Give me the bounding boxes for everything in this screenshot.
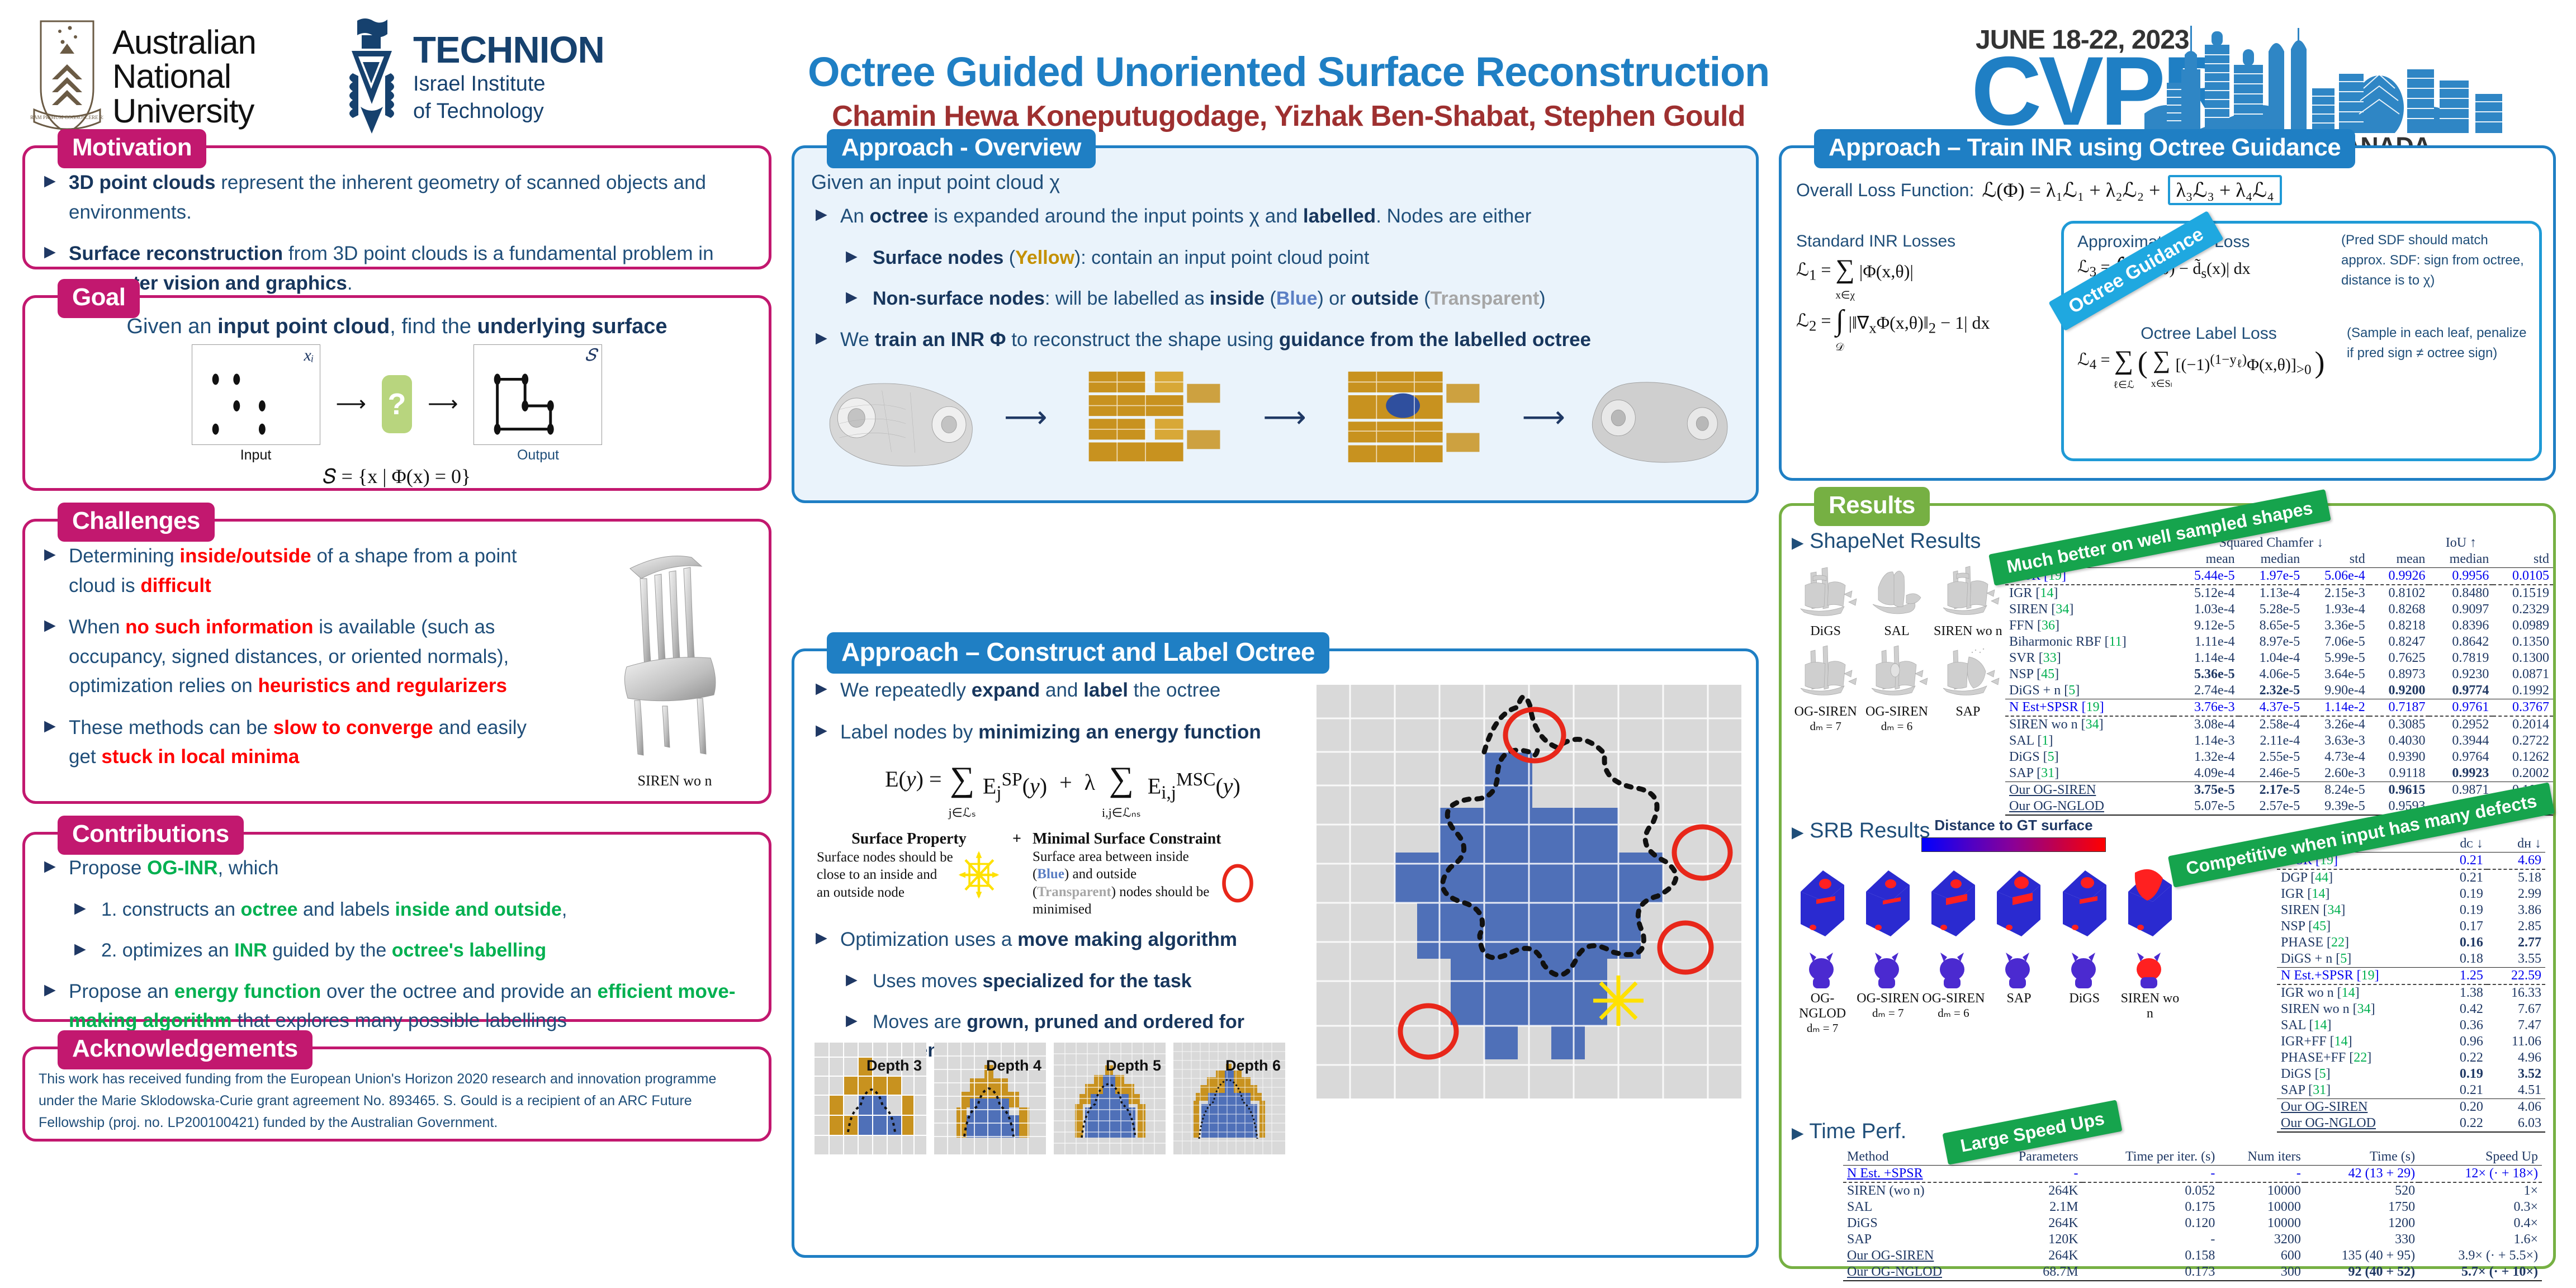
shapenet-fig-sub-4: dₘ = 7 <box>1791 719 1860 733</box>
table-cell: 2.11e-4 <box>2239 733 2304 749</box>
table-row: DiGS [5]0.193.52 <box>2277 1066 2545 1082</box>
table-cell: 16.33 <box>2487 984 2545 1001</box>
table-cell-method: IGR wo n [14] <box>2277 984 2439 1001</box>
table-cell: 0.9774 <box>2429 683 2493 699</box>
l4-sub-1: ℓ∈ℒ <box>2114 379 2134 390</box>
table-row: Our OG-NGLOD0.226.03 <box>2277 1115 2545 1132</box>
table-cell: 1750 <box>2305 1199 2419 1215</box>
overall-loss-eq-highlight: λ₃ℒ₃ + λ₄ℒ₄ <box>2168 175 2281 205</box>
table-cell: 2.46e-5 <box>2239 765 2304 782</box>
srb-bracket-4-image <box>1987 857 2048 946</box>
table-cell: 8.65e-5 <box>2239 618 2304 634</box>
table-cell: 2.57e-5 <box>2239 798 2304 815</box>
table-cell: 0.9764 <box>2429 749 2493 765</box>
technion-name: TECHNION <box>413 31 604 69</box>
technion-logo: TECHNION Israel Institute of Technology <box>338 16 651 139</box>
table-row: DGP [44]0.215.18 <box>2277 869 2545 886</box>
table-cell: 3.86 <box>2487 902 2545 918</box>
srb-anchor-2-image <box>1856 949 1917 988</box>
table-row: SIREN wo n [34]0.427.67 <box>2277 1001 2545 1017</box>
table-row: DiGS [5]1.32e-42.55e-54.73e-40.93900.976… <box>2005 749 2553 765</box>
table-cell: 68.7M <box>1987 1264 2082 1281</box>
table-cell: 0.9615 <box>2369 782 2430 799</box>
srb-figure: OG-SIREN dₘ = 7 <box>1856 857 1920 1035</box>
column-header: mean <box>2173 551 2239 568</box>
table-cell: 0.8480 <box>2429 585 2493 602</box>
octree-label-block: Octree Label Loss ℒ4 = ∑ℓ∈ℒ ( ∑x∈Sₗ [(−1… <box>2077 324 2340 392</box>
table-row: SAL [14]0.367.47 <box>2277 1017 2545 1034</box>
table-cell: 5.18 <box>2487 869 2545 886</box>
vancouver-skyline-icon <box>2144 16 2558 133</box>
octree-labelling-figure <box>1317 685 1741 1098</box>
arrow-right-icon-4: ⟶ <box>1263 399 1306 434</box>
table-cell: 7.67 <box>2487 1001 2545 1017</box>
table-cell: 12× (· + 18×) <box>2419 1166 2542 1183</box>
list-item: Surface reconstruction from 3D point clo… <box>40 239 750 298</box>
shapenet-heading: ▶ ShapeNet Results <box>1792 529 1981 553</box>
table-row: SIREN wo n [34]3.08e-42.58e-43.26e-40.30… <box>2005 716 2553 733</box>
energy-term-msc: Minimal Surface Constraint Surface area … <box>1033 830 1256 918</box>
table-cell: 0.4× <box>2419 1215 2542 1232</box>
depth-figure: Depth 3 <box>815 1043 926 1157</box>
table-cell-method: SAL [14] <box>2277 1017 2439 1034</box>
table-cell: 2.60e-3 <box>2304 765 2369 782</box>
table-row: NSP [45]5.36e-54.06e-53.64e-50.89730.923… <box>2005 666 2553 683</box>
table-cell: 4.37e-5 <box>2239 699 2304 717</box>
table-row: DiGS + n [5]0.183.55 <box>2277 951 2545 968</box>
sum-sub-right: i,j∈ℒₙₛ <box>1102 806 1141 820</box>
table-cell: 3.52 <box>2487 1066 2545 1082</box>
table-cell: 264K <box>1987 1215 2082 1232</box>
term-sp-title: Surface Property <box>817 830 1001 848</box>
table-cell: 0.7819 <box>2429 650 2493 666</box>
table-cell: 0.8247 <box>2369 634 2430 650</box>
page-title: Octree Guided Unoriented Surface Reconst… <box>693 50 1884 94</box>
table-row: SIREN [34]1.03e-45.28e-51.93e-40.82680.9… <box>2005 602 2553 618</box>
technion-emblem-icon <box>338 17 405 138</box>
table-cell: 0.20 <box>2439 1099 2487 1116</box>
column-header: Time (s) <box>2305 1149 2419 1166</box>
standard-losses-title: Standard INR Losses <box>1796 232 2053 251</box>
shapenet-figure: OG-SIREN dₘ = 7 <box>1791 640 1860 733</box>
table-cell: 2.85 <box>2487 918 2545 935</box>
table-cell: 0.19 <box>2439 886 2487 902</box>
table-cell: 600 <box>2219 1248 2304 1264</box>
table-cell: 4.73e-4 <box>2304 749 2369 765</box>
author-list: Chamin Hewa Koneputugodage, Yizhak Ben-S… <box>693 100 1884 133</box>
shapenet-figure: DiGS <box>1791 560 1860 639</box>
table-cell: 4.09e-4 <box>2173 765 2239 782</box>
table-cell: 0.7187 <box>2369 699 2430 717</box>
srb-fig-label-2: OG-SIREN <box>1856 991 1920 1006</box>
table-cell: 0.9956 <box>2429 568 2493 585</box>
anu-line-1: Australian <box>112 25 256 59</box>
shapenet-fig-label-4: OG-SIREN <box>1791 704 1860 719</box>
term-msc-body: Surface area between inside (Blue) and o… <box>1033 848 1215 918</box>
srb-bracket-3-image <box>1921 857 1983 946</box>
panel-title-results: Results <box>1814 487 1930 526</box>
depth-label-4: Depth 4 <box>986 1057 1041 1074</box>
table-row: IGR [14]0.192.99 <box>2277 886 2545 902</box>
table-cell: 0.1992 <box>2493 683 2553 699</box>
srb-anchor-6-image <box>2118 949 2180 988</box>
table-cell: 7.06e-5 <box>2304 634 2369 650</box>
shapenet-table: Squared Chamfer ↓IoU ↑Methodmeanmedianst… <box>2005 535 2553 816</box>
list-item: Surface nodes (Yellow): contain an input… <box>811 244 1739 272</box>
goal-diagram: xᵢ Input ⟶ ? ⟶ 𝑆 <box>25 344 769 463</box>
table-cell: 9.39e-5 <box>2304 798 2369 815</box>
shapenet-table-wrap: Squared Chamfer ↓IoU ↑Methodmeanmedianst… <box>2005 535 2553 816</box>
table-cell: 0.2329 <box>2493 602 2553 618</box>
table-cell: 0.9118 <box>2369 765 2430 782</box>
table-cell-method: SIREN [34] <box>2277 902 2439 918</box>
table-cell: 0.0871 <box>2493 666 2553 683</box>
shapenet-figure: SAP <box>1933 640 2003 733</box>
panel-challenges: Challenges Determining inside/outside of… <box>22 519 771 804</box>
technion-sub-2: of Technology <box>413 100 604 124</box>
table-cell: 0.1300 <box>2493 650 2553 666</box>
table-cell: 0.9923 <box>2429 765 2493 782</box>
table-cell: 0.9200 <box>2369 683 2430 699</box>
depth-figure: Depth 5 <box>1054 1043 1166 1157</box>
shapenet-fig-label-2: SAL <box>1862 624 1931 639</box>
list-item: Non-surface nodes: will be labelled as i… <box>811 285 1739 313</box>
challenges-list: Determining inside/outside of a shape fr… <box>40 542 543 772</box>
table-cell: 0.120 <box>2082 1215 2219 1232</box>
list-item: Label nodes by minimizing an energy func… <box>811 718 1298 747</box>
table-cell: 1.38 <box>2439 984 2487 1001</box>
srb-fig-sub-2: dₘ = 7 <box>1856 1006 1920 1020</box>
srb-bracket-2-image <box>1856 857 1917 946</box>
table-cell-method: NSP [45] <box>2277 918 2439 935</box>
table-cell: 0.0105 <box>2493 568 2553 585</box>
table-cell-method: IGR [14] <box>2277 886 2439 902</box>
srb-anchor-1-image <box>1791 949 1852 988</box>
list-item: When no such information is available (s… <box>40 613 543 701</box>
table-cell: 0.96 <box>2439 1034 2487 1050</box>
table-cell: 0.19 <box>2439 1066 2487 1082</box>
table-cell: 0.22 <box>2439 1050 2487 1066</box>
table-cell: 135 (40 + 95) <box>2305 1248 2419 1264</box>
column-header: Time per iter. (s) <box>2082 1149 2219 1166</box>
point-cloud-mesh-image <box>811 352 991 481</box>
column-header: dᴄ ↓ <box>2439 836 2487 853</box>
table-cell-method: Our OG-NGLOD <box>2277 1115 2439 1132</box>
table-cell-method: SAP [31] <box>2277 1082 2439 1099</box>
table-cell: 0.42 <box>2439 1001 2487 1017</box>
arrow-right-icon-2: ⟶ <box>428 391 458 416</box>
term-msc-title: Minimal Surface Constraint <box>1033 830 1256 848</box>
list-item: We repeatedly expand and label the octre… <box>811 676 1298 705</box>
table-cell: 0.9390 <box>2369 749 2430 765</box>
table-row: Our OG-SIREN264K0.158600135 (40 + 95)3.9… <box>1843 1248 2542 1264</box>
srb-anchor-5-image <box>2053 949 2114 988</box>
overall-loss-eq: ℒ(Φ) = λ₁ℒ₁ + λ₂ℒ₂ + <box>1982 178 2160 202</box>
srb-colorbar-gradient <box>1921 837 2106 852</box>
table-row: Our OG-SIREN0.204.06 <box>2277 1099 2545 1116</box>
srb-heading: ▶ SRB Results <box>1792 819 1930 843</box>
table-cell-method: Our OG-SIREN <box>1843 1248 1987 1264</box>
table-cell-method: IGR [14] <box>2005 585 2173 602</box>
table-cell: 300 <box>2219 1264 2304 1281</box>
table-cell: 4.06e-5 <box>2239 666 2304 683</box>
goal-formula: 𝑆 = {x | Φ(x) = 0} <box>25 465 769 489</box>
table-cell-method: SAP [31] <box>2005 765 2173 782</box>
table-cell-method: Our OG-NGLOD <box>2005 798 2173 815</box>
goal-headline: Given an input point cloud, find the und… <box>25 315 769 339</box>
table-cell: 264K <box>1987 1182 2082 1199</box>
table-cell-method: SAL [1] <box>2005 733 2173 749</box>
time-table: MethodParametersTime per iter. (s)Num it… <box>1843 1149 2542 1281</box>
table-cell-method: SIREN [34] <box>2005 602 2173 618</box>
table-cell: 0.8268 <box>2369 602 2430 618</box>
table-cell: 0.18 <box>2439 951 2487 968</box>
red-circle-highlight-icon <box>1219 862 1256 905</box>
table-cell: 1.93e-4 <box>2304 602 2369 618</box>
table-row: DiGS264K0.1201000012000.4× <box>1843 1215 2542 1232</box>
table-cell: 0.17 <box>2439 918 2487 935</box>
panel-title-approach-inr: Approach – Train INR using Octree Guidan… <box>1814 129 2355 168</box>
column-header: std <box>2493 551 2553 568</box>
panel-title-motivation: Motivation <box>58 129 206 168</box>
table-cell: 3.55 <box>2487 951 2545 968</box>
table-cell: 42 (13 + 29) <box>2305 1166 2419 1183</box>
table-cell-method: IGR+FF [14] <box>2277 1034 2439 1050</box>
goal-question-badge: ? <box>382 375 412 433</box>
srb-figure-grid: OG-NGLOD dₘ = 7 OG-SIREN dₘ = 7 <box>1791 857 2182 1035</box>
pipeline-figure: ⟶ ⟶ <box>811 347 1739 486</box>
table-cell-method: DiGS + n [5] <box>2277 951 2439 968</box>
table-cell: 0.36 <box>2439 1017 2487 1034</box>
table-cell: 0.9926 <box>2369 568 2430 585</box>
srb-bracket-1-image <box>1791 857 1852 946</box>
shapenet-fig-label-5: OG-SIREN <box>1862 704 1931 719</box>
table-cell: 2.15e-3 <box>2304 585 2369 602</box>
panel-title-challenges: Challenges <box>58 503 215 542</box>
srb-colorbar: Distance to GT surface <box>1921 817 2106 852</box>
anu-logo: NATURAM PRIMUM COGNOSCERE RERUM Australi… <box>31 12 305 141</box>
table-cell: 9.90e-4 <box>2304 683 2369 699</box>
srb-table-wrap: Methoddᴄ ↓dʜ ↓SPSR [19]0.214.69DGP [44]0… <box>2277 836 2545 1133</box>
table-cell: 1.14e-2 <box>2304 699 2369 717</box>
panel-goal: Goal Given an input point cloud, find th… <box>22 295 771 491</box>
table-cell-method: SIREN wo n [34] <box>2277 1001 2439 1017</box>
table-cell: - <box>2219 1166 2304 1183</box>
srb-anchor-3-image <box>1921 949 1983 988</box>
list-item: An octree is expanded around the input p… <box>811 202 1739 231</box>
goal-output-label: Output <box>473 447 602 463</box>
column-header: std <box>2304 551 2369 568</box>
table-row: IGR [14]5.12e-41.13e-42.15e-30.81020.848… <box>2005 585 2553 602</box>
table-cell: 2.17e-5 <box>2239 782 2304 799</box>
panel-acknowledgements: Acknowledgements This work has received … <box>22 1046 771 1142</box>
goal-input-box: xᵢ <box>192 344 320 445</box>
shapenet-figure: SAL <box>1862 560 1931 639</box>
table-cell: 7.47 <box>2487 1017 2545 1034</box>
shapenet-fig-sub-5: dₘ = 6 <box>1862 719 1931 733</box>
arrow-right-icon-3: ⟶ <box>1004 399 1047 434</box>
table-cell: 0.8396 <box>2429 618 2493 634</box>
l2-sub: 𝒟 <box>1835 342 1844 353</box>
ship-mesh-siren-image <box>1933 560 2000 621</box>
panel-title-contributions: Contributions <box>58 816 244 855</box>
standard-inr-losses: Standard INR Losses ℒ1 = ∑x∈χ |Φ(x,θ)| ℒ… <box>1796 232 2053 355</box>
table-cell: 0.8102 <box>2369 585 2430 602</box>
srb-bracket-5-image <box>2053 857 2114 946</box>
panel-title-approach-overview: Approach - Overview <box>827 129 1096 168</box>
octree-label-title: Octree Label Loss <box>2077 324 2340 343</box>
ship-mesh-sal-image <box>1862 560 1929 621</box>
table-cell: 9.12e-5 <box>2173 618 2239 634</box>
table-cell: 3.26e-4 <box>2304 716 2369 733</box>
table-cell-method: PHASE [22] <box>2277 935 2439 951</box>
table-cell: 2.74e-4 <box>2173 683 2239 699</box>
table-cell: 10000 <box>2219 1215 2304 1232</box>
list-item: Propose OG-INR, which <box>40 854 752 883</box>
table-row: N Est. +SPSR---42 (13 + 29)12× (· + 18×) <box>1843 1166 2542 1183</box>
table-row: IGR wo n [14]1.3816.33 <box>2277 984 2545 1001</box>
table-cell: 1.13e-4 <box>2239 585 2304 602</box>
srb-fig-label-5: DiGS <box>2053 991 2116 1006</box>
table-cell: 0.2002 <box>2493 765 2553 782</box>
table-cell: - <box>2082 1166 2219 1183</box>
anu-line-3: University <box>112 94 256 128</box>
arrow-right-icon-5: ⟶ <box>1522 399 1565 434</box>
star-burst-icon <box>956 848 1001 902</box>
table-cell-method: SIREN wo n [34] <box>2005 716 2173 733</box>
panel-title-approach-octree: Approach – Construct and Label Octree <box>827 632 1329 674</box>
goal-output-box: 𝑆 <box>473 344 602 445</box>
anu-line-2: National <box>112 59 256 93</box>
table-cell-method: NSP [45] <box>2005 666 2173 683</box>
table-cell-method: DiGS [5] <box>2005 749 2173 765</box>
table-row: IGR+FF [14]0.9611.06 <box>2277 1034 2545 1050</box>
table-cell-method: DiGS + n [5] <box>2005 683 2173 699</box>
table-row: NSP [45]0.172.85 <box>2277 918 2545 935</box>
shapenet-fig-label-3: SIREN wo n <box>1933 624 2003 639</box>
svg-text:NATURAM PRIMUM COGNOSCERE RERU: NATURAM PRIMUM COGNOSCERE RERUM <box>31 115 103 120</box>
list-item: Optimization uses a move making algorith… <box>811 925 1303 955</box>
table-cell: 0.2952 <box>2429 716 2493 733</box>
acknowledgements-text: This work has received funding from the … <box>39 1068 753 1133</box>
table-cell: 0.2722 <box>2493 733 2553 749</box>
octree-blocks-image <box>1060 352 1249 481</box>
table-row: N Est.+SPSR [19]1.2522.59 <box>2277 968 2545 985</box>
panel-approach-inr: Approach – Train INR using Octree Guidan… <box>1779 145 2556 481</box>
table-row: SAL [1]1.14e-32.11e-43.63e-30.40300.3944… <box>2005 733 2553 749</box>
table-row: SAP120K-32003301.6× <box>1843 1232 2542 1248</box>
table-row: SVR [33]1.14e-41.04e-45.99e-50.76250.781… <box>2005 650 2553 666</box>
column-header: median <box>2429 551 2493 568</box>
table-cell: 0.158 <box>2082 1248 2219 1264</box>
table-cell: 3.9× (· + 5.5×) <box>2419 1248 2542 1264</box>
table-cell: 2.55e-5 <box>2239 749 2304 765</box>
table-cell: 0.21 <box>2439 1082 2487 1099</box>
table-cell: 1.03e-4 <box>2173 602 2239 618</box>
srb-anchor-4-image <box>1987 949 2048 988</box>
table-cell: 0.21 <box>2439 869 2487 886</box>
table-cell: 0.9097 <box>2429 602 2493 618</box>
energy-term-sp: Surface Property Surface nodes should be… <box>817 830 1001 918</box>
table-cell-method: Our OG-SIREN <box>2277 1099 2439 1116</box>
table-cell: 1.04e-4 <box>2239 650 2304 666</box>
shapenet-fig-label-6: SAP <box>1933 704 2003 719</box>
octree-label-note: (Sample in each leaf, penalize if pred s… <box>2347 323 2531 363</box>
table-row: FFN [36]9.12e-58.65e-53.36e-50.82180.839… <box>2005 618 2553 634</box>
technion-sub-1: Israel Institute <box>413 72 604 96</box>
arrow-right-icon: ⟶ <box>336 391 366 416</box>
technion-wordmark: TECHNION Israel Institute of Technology <box>413 31 604 123</box>
table-cell: 3200 <box>2219 1232 2304 1248</box>
table-cell: 2.1M <box>1987 1199 2082 1215</box>
anu-wordmark: Australian National University <box>112 25 256 128</box>
loss-l4: ℒ4 = ∑ℓ∈ℒ ( ∑x∈Sₗ [(−1)(1−yℓ)Φ(x,θ)]>0 ) <box>2077 350 2340 392</box>
srb-fig-label-4: SAP <box>1987 991 2051 1006</box>
table-cell: 3.08e-4 <box>2173 716 2239 733</box>
table-cell: 0.3944 <box>2429 733 2493 749</box>
table-cell: 2.99 <box>2487 886 2545 902</box>
table-cell: 11.06 <box>2487 1034 2545 1050</box>
challenges-figure: SIREN wo n <box>591 546 759 789</box>
table-cell: 2.77 <box>2487 935 2545 951</box>
shapenet-figure: OG-SIREN dₘ = 6 <box>1862 640 1931 733</box>
table-cell: 10000 <box>2219 1199 2304 1215</box>
srb-fig-label-6: SIREN wo n <box>2118 991 2182 1021</box>
table-row: SPSR [19]5.44e-51.97e-55.06e-40.99260.99… <box>2005 568 2553 585</box>
table-row: DiGS + n [5]2.74e-42.32e-59.90e-40.92000… <box>2005 683 2553 699</box>
table-cell: 1200 <box>2305 1215 2419 1232</box>
table-row: Our OG-SIREN3.75e-52.17e-58.24e-50.96150… <box>2005 782 2553 799</box>
table-cell-method: Biharmonic RBF [11] <box>2005 634 2173 650</box>
table-cell-method: DiGS [5] <box>2277 1066 2439 1082</box>
table-cell: 10000 <box>2219 1182 2304 1199</box>
loss-l1: ℒ1 = ∑x∈χ |Φ(x,θ)| <box>1796 259 2053 303</box>
table-cell: 0.3× <box>2419 1199 2542 1215</box>
panel-approach-octree: Approach – Construct and Label Octree We… <box>792 648 1759 1258</box>
table-cell: 1.14e-4 <box>2173 650 2239 666</box>
srb-figure: DiGS <box>2053 857 2116 1035</box>
title-block: Octree Guided Unoriented Surface Reconst… <box>693 50 1884 133</box>
approach-overview-lead: Given an input point cloud χ <box>811 171 1756 194</box>
table-cell: 0.9230 <box>2429 666 2493 683</box>
table-cell: 0.16 <box>2439 935 2487 951</box>
approach-overview-list: An octree is expanded around the input p… <box>811 202 1739 354</box>
table-cell: 5.28e-5 <box>2239 602 2304 618</box>
table-row: PHASE+FF [22]0.224.96 <box>2277 1050 2545 1066</box>
overall-loss-label: Overall Loss Function: <box>1796 180 1974 201</box>
table-cell: 2.32e-5 <box>2239 683 2304 699</box>
table-cell: 5.7× (· + 10×) <box>2419 1264 2542 1281</box>
table-cell: 1.97e-5 <box>2239 568 2304 585</box>
table-cell: 330 <box>2305 1232 2419 1248</box>
table-cell: 0.8642 <box>2429 634 2493 650</box>
table-cell-method: N Est. +SPSR <box>1843 1166 1987 1183</box>
ship-mesh-sap-image <box>1933 640 2000 702</box>
goal-input-label: Input <box>192 447 320 463</box>
table-cell: 4.96 <box>2487 1050 2545 1066</box>
table-cell: 8.24e-5 <box>2304 782 2369 799</box>
srb-figure: SAP <box>1987 857 2051 1035</box>
list-item: Determining inside/outside of a shape fr… <box>40 542 543 600</box>
table-cell: 1× <box>2419 1182 2542 1199</box>
srb-table: Methoddᴄ ↓dʜ ↓SPSR [19]0.214.69DGP [44]0… <box>2277 836 2545 1133</box>
table-cell: 0.4030 <box>2369 733 2430 749</box>
challenges-figure-caption: SIREN wo n <box>591 773 759 789</box>
depth-figure: Depth 6 <box>1173 1043 1285 1157</box>
column-header: mean <box>2369 551 2430 568</box>
panel-contributions: Contributions Propose OG-INR, which 1. c… <box>22 832 771 1022</box>
table-cell: 0.1262 <box>2493 749 2553 765</box>
